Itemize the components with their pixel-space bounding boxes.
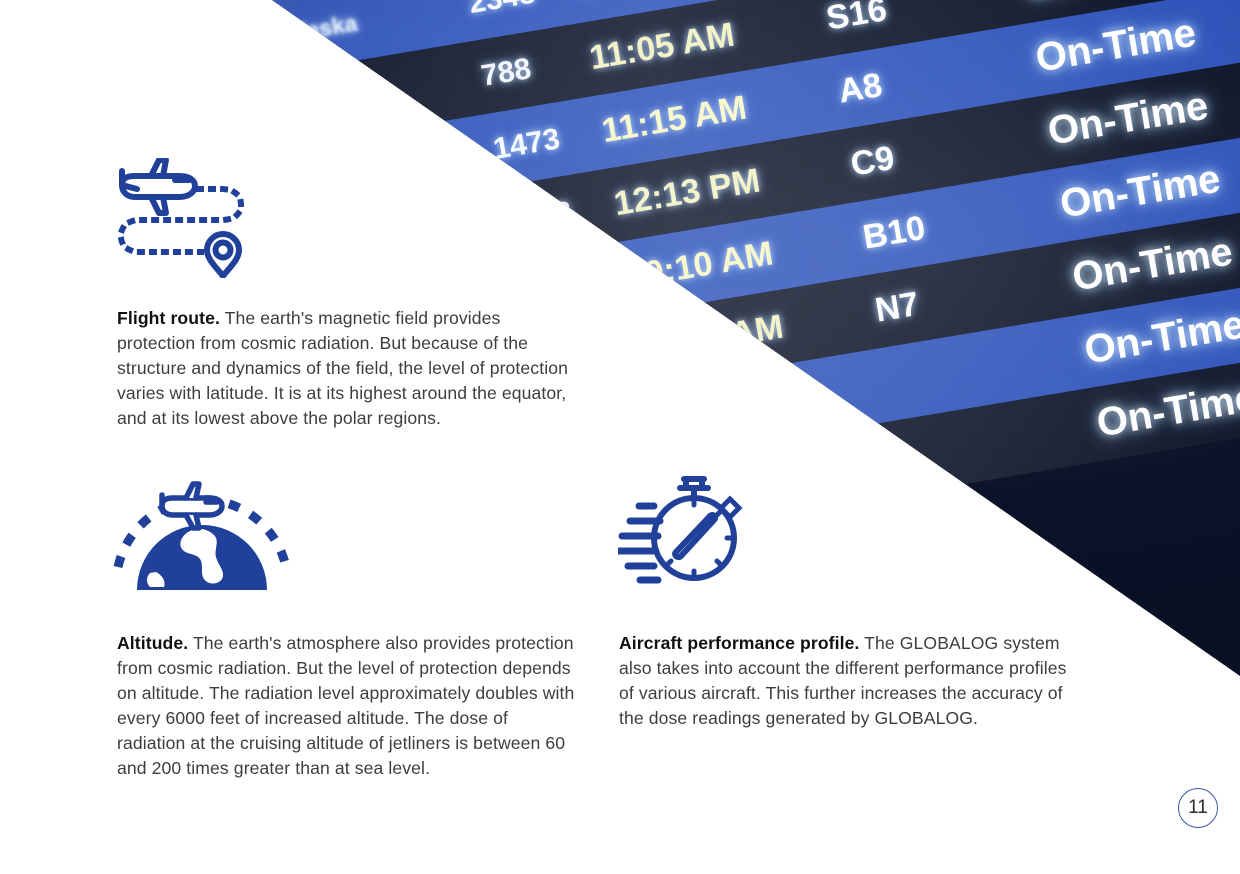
page-number: 11 — [1178, 788, 1218, 828]
stopwatch-icon — [618, 466, 743, 591]
board-cell-airline: Alaska — [318, 229, 396, 268]
altitude-body: The earth's atmosphere also provides pro… — [117, 633, 574, 778]
page-number-value: 11 — [1188, 797, 1208, 819]
board-cell-flight: 1933 — [503, 195, 574, 240]
board-cell-gate: N7 — [872, 285, 921, 331]
board-cell-airline: Alaska — [355, 448, 433, 487]
flight-route-icon — [113, 158, 253, 278]
board-cell-airline: Delta — [294, 86, 354, 122]
flight-route-blurb: Flight route. The earth's magnetic field… — [117, 306, 569, 431]
slide-page: Virgin America75012:55 AMC10On-TimeAlask… — [0, 0, 1240, 874]
aircraft-performance-heading: Aircraft performance profile. — [619, 633, 859, 653]
board-cell-time: 11:15 AM — [636, 308, 787, 371]
altitude-heading: Altitude. — [117, 633, 188, 653]
aircraft-performance-blurb: Aircraft performance profile. The GLOBAL… — [619, 631, 1069, 731]
globe-altitude-icon — [112, 465, 292, 590]
board-cell-airline: Alaska — [306, 156, 384, 195]
flight-route-heading: Flight route. — [117, 308, 220, 328]
board-cell-gate: A8 — [836, 66, 885, 112]
board-cell-gate: C9 — [848, 139, 897, 185]
altitude-blurb: Altitude. The earth's atmosphere also pr… — [117, 631, 577, 781]
